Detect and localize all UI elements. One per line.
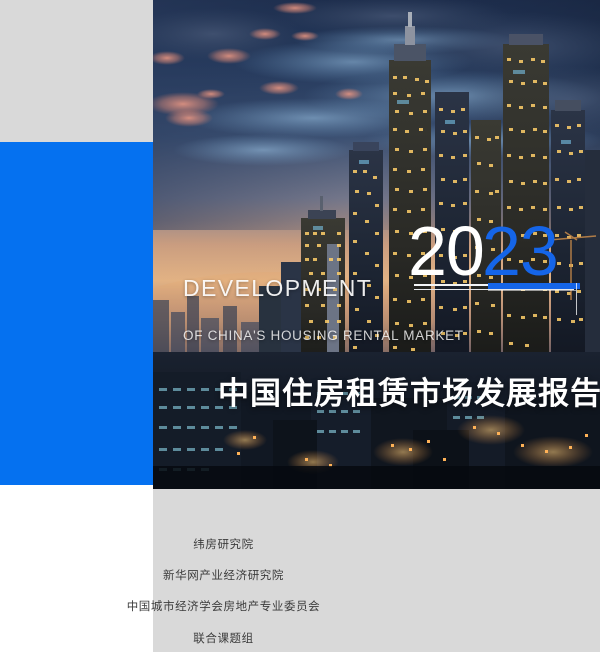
credit-line-1: 纬房研究院 — [0, 539, 447, 552]
credit-line-4: 联合课题组 — [0, 633, 447, 646]
left-white-block — [0, 485, 153, 652]
credit-line-2: 新华网产业经济研究院 — [0, 570, 447, 583]
left-gray-block — [0, 0, 153, 142]
credit-line-3: 中国城市经济学会房地产专业委员会 — [0, 601, 447, 614]
year-vertical-tick — [576, 283, 577, 315]
report-cover-page: 20 23 DEVELOPMENT OF CHINA'S HOUSING REN… — [0, 0, 600, 652]
english-title: DEVELOPMENT — [183, 277, 372, 300]
cityscape-illustration — [153, 0, 600, 489]
cityscape-photo — [153, 0, 600, 489]
left-blue-accent-block — [0, 142, 153, 485]
year-underline-blue — [488, 283, 580, 289]
report-title-chinese: 中国住房租赁市场发展报告 — [218, 377, 600, 411]
english-subtitle: OF CHINA'S HOUSING RENTAL MARKET — [183, 329, 464, 343]
year-underline-hairline — [488, 290, 576, 291]
